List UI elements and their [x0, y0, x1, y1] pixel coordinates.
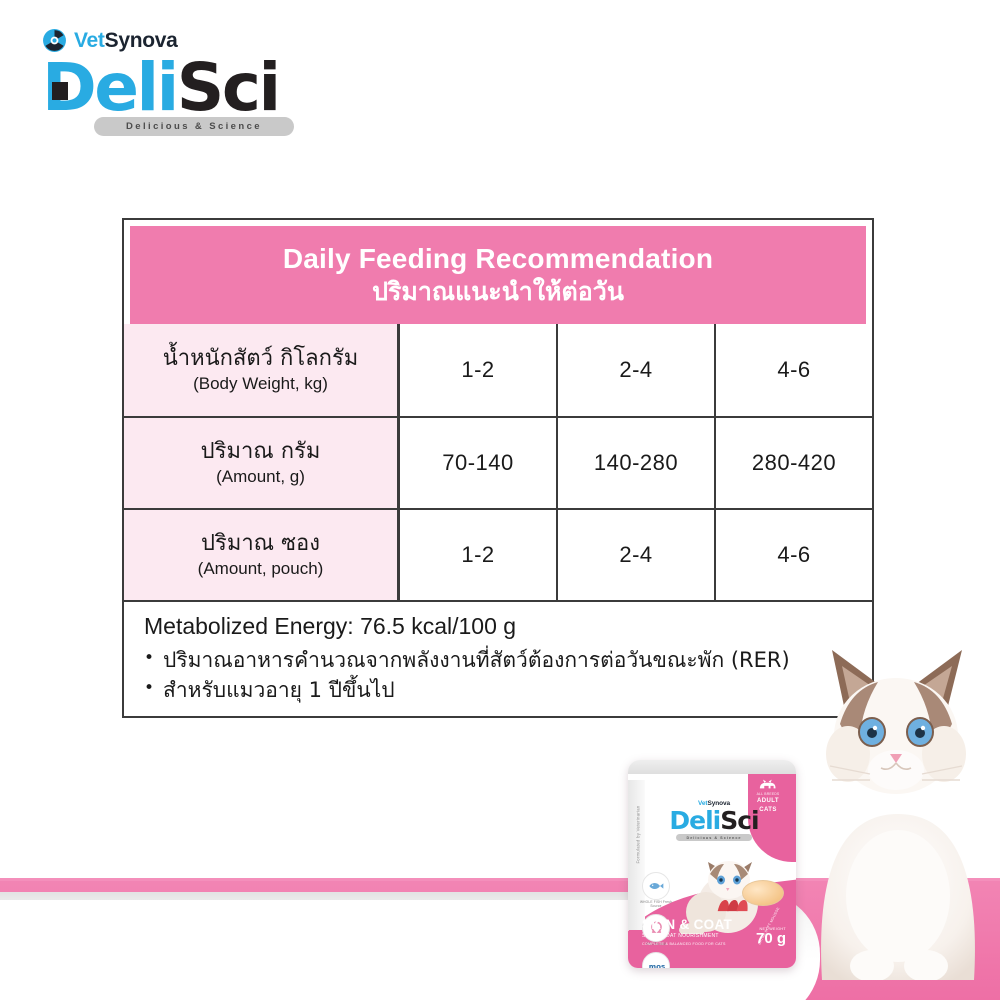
pouch-badge-caption: WHOLE FISH Fresh Source	[636, 901, 676, 909]
pouch-side-text: Formulated by Veterinarian	[636, 787, 641, 883]
company-wordmark: VetSynova	[74, 30, 178, 51]
row-label-en: (Amount, pouch)	[198, 558, 324, 580]
bullet-icon: •	[144, 675, 154, 702]
table-cell: 4-6	[716, 324, 872, 416]
bullet-icon: •	[144, 645, 154, 672]
feeding-guide-page: VetSynova DeliSci Delicious & Science Da…	[0, 0, 1000, 1000]
hero-cat-photo	[792, 628, 1000, 980]
row-label-th: ปริมาณ กรัม	[201, 438, 321, 466]
pouch-variant-sub: SKIN & COAT NOURISHMENT	[642, 933, 732, 939]
list-item: • สำหรับแมวอายุ 1 ปีขึ้นไป	[144, 675, 872, 705]
table-cell: 70-140	[400, 418, 558, 508]
table-cell: 1-2	[400, 324, 558, 416]
product-logo: DeliSci	[42, 56, 307, 121]
row-label-th: น้ำหนักสัตว์ กิโลกรัม	[163, 345, 359, 373]
footer-note-text: สำหรับแมวอายุ 1 ปีขึ้นไป	[163, 675, 395, 705]
table-title-th: ปริมาณแนะนำให้ต่อวัน	[372, 277, 624, 307]
pouch-brand-block: VetSynova DeliSci Delicious & Science	[658, 800, 770, 841]
product-wordmark: DeliSci	[42, 56, 307, 121]
table-row: ปริมาณ ซอง (Amount, pouch) 1-2 2-4 4-6	[124, 508, 872, 600]
table-row: น้ำหนักสัตว์ กิโลกรัม (Body Weight, kg) …	[124, 324, 872, 416]
fish-icon	[642, 872, 670, 900]
table-title-en: Daily Feeding Recommendation	[283, 243, 713, 275]
pouch-product-prefix: Deli	[669, 806, 720, 835]
feeding-table-header: Daily Feeding Recommendation ปริมาณแนะนำ…	[130, 226, 866, 324]
pouch-variant-block: SKIN & COAT SKIN & COAT NOURISHMENT COMP…	[642, 918, 732, 947]
pouch-face: Formulated by Veterinarian ALL BREEDS AD…	[628, 774, 796, 968]
pouch-badge-fish: WHOLE FISH Fresh Source	[636, 872, 676, 909]
pouch-badge-mos: mos PREBIOTIC FORMULA	[636, 952, 676, 968]
pouch-tagline: Delicious & Science	[676, 834, 752, 841]
pouch-product-suffix: Sci	[720, 806, 758, 835]
table-cell: 2-4	[558, 510, 716, 600]
pouch-all-breeds-label: ALL BREEDS	[746, 792, 790, 796]
row-label-en: (Amount, g)	[216, 466, 305, 488]
table-cell: 140-280	[558, 418, 716, 508]
feeding-table-body: น้ำหนักสัตว์ กิโลกรัม (Body Weight, kg) …	[124, 324, 872, 600]
row-label-amount-pouch: ปริมาณ ซอง (Amount, pouch)	[124, 510, 400, 600]
brand-lockup: VetSynova DeliSci Delicious & Science	[42, 26, 342, 136]
mos-icon: mos	[642, 952, 670, 968]
product-pouch-image: Formulated by Veterinarian ALL BREEDS AD…	[628, 760, 796, 968]
table-cell: 280-420	[716, 418, 872, 508]
pouch-variant-note: COMPLETE & BALANCED FOOD FOR CATS	[642, 942, 732, 946]
feeding-table: Daily Feeding Recommendation ปริมาณแนะนำ…	[122, 218, 874, 718]
metabolized-energy-text: Metabolized Energy: 76.5 kcal/100 g	[144, 612, 872, 642]
row-label-amount-g: ปริมาณ กรัม (Amount, g)	[124, 418, 400, 508]
list-item: • ปริมาณอาหารคำนวณจากพลังงานที่สัตว์ต้อง…	[144, 645, 872, 675]
product-logo-accent-dot	[52, 82, 68, 100]
table-cell: 2-4	[558, 324, 716, 416]
feeding-table-footer: Metabolized Energy: 76.5 kcal/100 g • ปร…	[124, 600, 872, 706]
table-cell: 4-6	[716, 510, 872, 600]
row-label-body-weight: น้ำหนักสัตว์ กิโลกรัม (Body Weight, kg)	[124, 324, 400, 416]
row-label-en: (Body Weight, kg)	[193, 373, 328, 395]
cat-silhouette-icon	[746, 778, 790, 792]
table-row: ปริมาณ กรัม (Amount, g) 70-140 140-280 2…	[124, 416, 872, 508]
pouch-variant-name: SKIN & COAT	[642, 918, 732, 932]
pouch-product-wordmark: DeliSci	[658, 808, 770, 833]
svg-text:mos: mos	[648, 961, 664, 968]
table-cell: 1-2	[400, 510, 558, 600]
footer-note-list: • ปริมาณอาหารคำนวณจากพลังงานที่สัตว์ต้อง…	[144, 645, 872, 706]
product-wordmark-suffix: Sci	[177, 49, 279, 126]
row-label-th: ปริมาณ ซอง	[201, 530, 320, 558]
footer-note-text: ปริมาณอาหารคำนวณจากพลังงานที่สัตว์ต้องกา…	[163, 645, 790, 675]
pouch-mousse-swirl	[742, 880, 784, 906]
